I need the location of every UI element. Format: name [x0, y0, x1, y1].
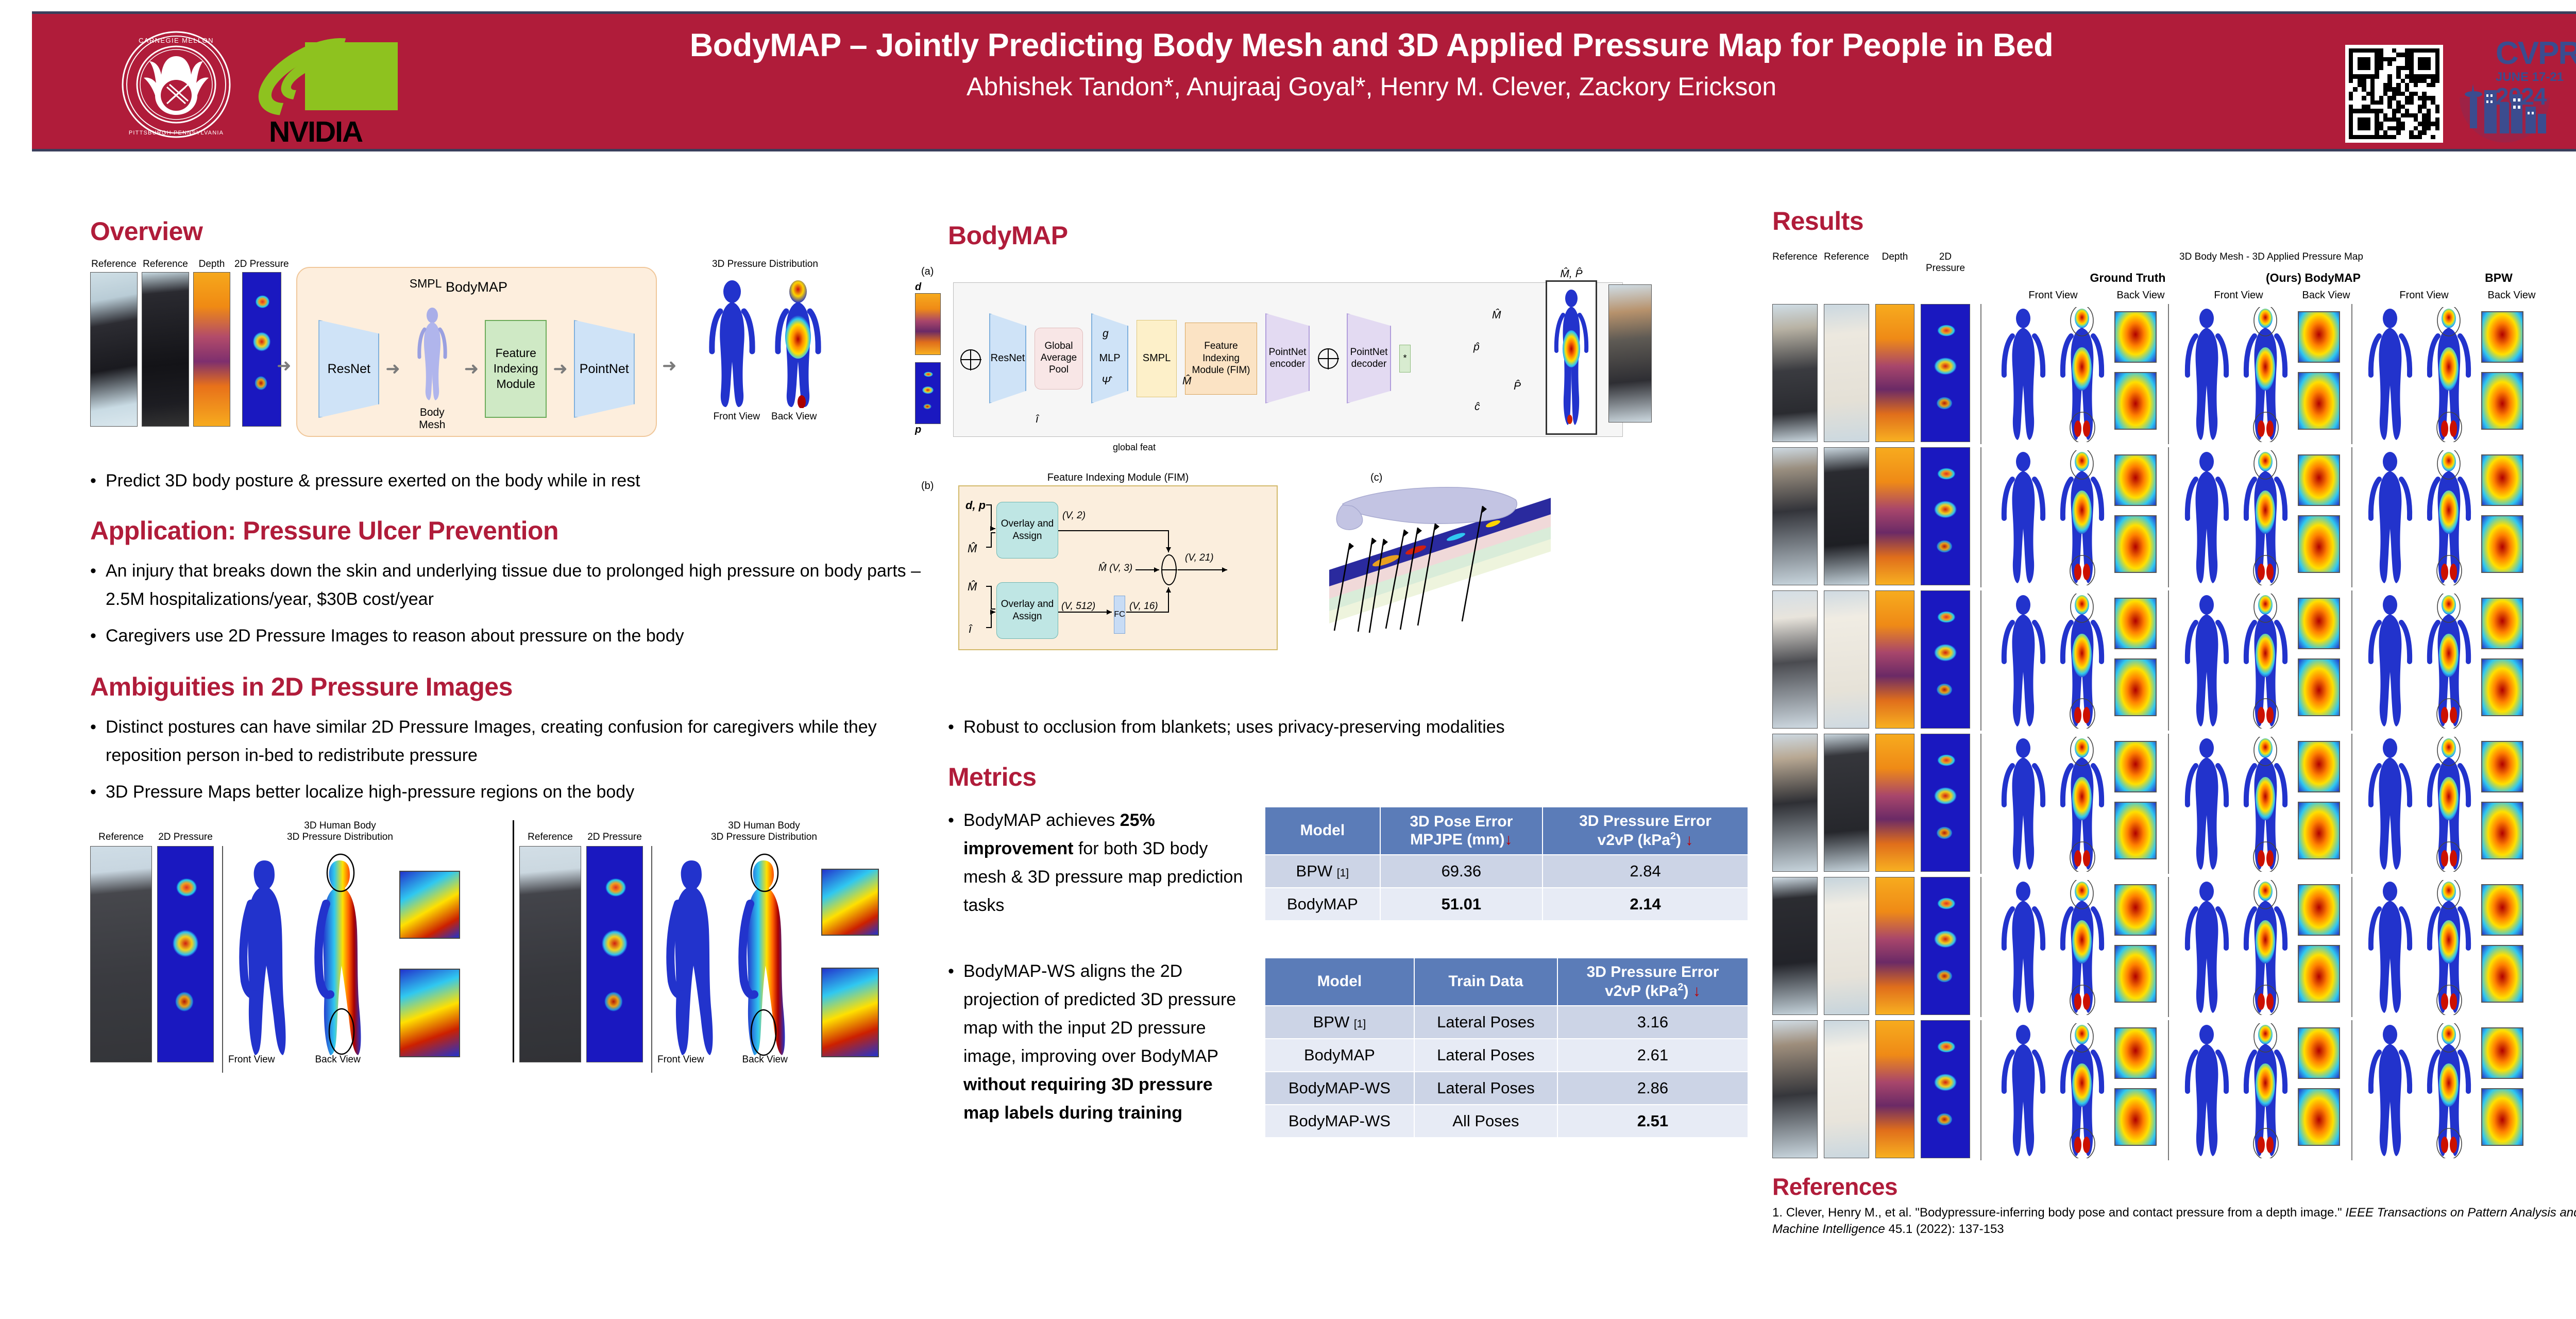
- results-divider: [2168, 734, 2169, 874]
- bullet-dot: •: [948, 713, 963, 741]
- col-header-pose-error: 3D Pose Error MPJPE (mm)↓: [1380, 807, 1543, 855]
- body-mesh-icon: [413, 307, 451, 402]
- symbol-c-hat: ĉ: [1475, 401, 1480, 413]
- results-group: [2175, 1020, 2345, 1160]
- block-label: MLP: [1099, 352, 1120, 364]
- zoom-inset-bottom: [2481, 802, 2523, 859]
- zoom-inset-bottom: [2298, 1088, 2340, 1146]
- results-group-ground-truth: Ground Truth: [2040, 271, 2215, 285]
- zoom-inset-1: [399, 871, 460, 939]
- mesh-side-front: [235, 852, 308, 1058]
- svg-text:CARNEGIE MELLON: CARNEGIE MELLON: [139, 37, 214, 44]
- table-row: BodyMAP Lateral Poses 2.61: [1265, 1039, 1748, 1072]
- section-heading-ambiguities: Ambiguities in 2D Pressure Images: [90, 672, 940, 702]
- mesh-front-view: [2362, 880, 2418, 1015]
- zoom-inset-top: [2298, 741, 2340, 792]
- nvidia-eye-icon: [253, 42, 398, 112]
- overview-figure: Reference Reference Depth 2D Pressure ➜ …: [90, 259, 940, 460]
- figure-caption: Reference: [143, 259, 188, 270]
- col-header-model: Model: [1265, 807, 1380, 855]
- view-label-back: Back View: [2092, 290, 2190, 301]
- zoom-inset-top: [2114, 741, 2157, 792]
- results-group-bpw: BPW: [2411, 271, 2576, 285]
- qr-code-icon[interactable]: [2345, 45, 2443, 143]
- results-2d-pressure: [1921, 590, 1970, 729]
- reference-item-1: 1. Clever, Henry M., et al. "Bodypressur…: [1772, 1205, 2576, 1238]
- fim-box: d, p M̂ Overlay and Assign (V, 2) M̂ î O…: [958, 485, 1278, 650]
- ambiguity-panel-1: Reference 2D Pressure 3D Human Body 3D P…: [90, 820, 507, 1073]
- figure-caption: Reference: [91, 259, 137, 270]
- block-label: PointNet decoder: [1348, 347, 1390, 370]
- bullet-text: BodyMAP achieves 25% improvement for bot…: [963, 806, 1252, 920]
- zoom-inset-bottom: [2298, 372, 2340, 430]
- arrow-icon: ➜: [662, 356, 677, 376]
- table-header-row: Model 3D Pose Error MPJPE (mm)↓ 3D Press…: [1265, 807, 1748, 855]
- mesh-front-view: [2362, 450, 2418, 585]
- reference-number: 1.: [1772, 1206, 1783, 1220]
- zoom-inset-bottom: [2298, 658, 2340, 716]
- fim-wiring: [959, 486, 1279, 651]
- zoom-inset-top: [2114, 598, 2157, 649]
- reference-locator: 45.1 (2022): 137-153: [1885, 1222, 2004, 1236]
- cell-model: BodyMAP: [1265, 1039, 1414, 1072]
- reference-text: Clever, Henry M., et al. "Bodypressure-i…: [1786, 1206, 2346, 1220]
- results-depth: [1875, 590, 1914, 729]
- cell-pressure: 2.14: [1543, 888, 1748, 921]
- down-arrow-icon: ↓: [1505, 831, 1513, 848]
- col-header-train-data: Train Data: [1414, 958, 1557, 1006]
- mesh-back-view-pressure: [2237, 737, 2294, 872]
- bullet-dot: •: [90, 622, 106, 650]
- results-group: [1992, 1020, 2162, 1160]
- figure-caption: Reference: [98, 832, 144, 843]
- author-list: Abhishek Tandon*, Anujraaj Goyal*, Henry…: [454, 72, 2289, 102]
- mesh-front-view: [1995, 450, 2052, 585]
- pressure-mat-illustration: [1309, 481, 1597, 651]
- application-bullet-2: • Caregivers use 2D Pressure Images to r…: [90, 622, 940, 650]
- view-label-front: Front View: [657, 1054, 704, 1066]
- view-label-back: Back View: [2463, 290, 2561, 301]
- section-heading-overview: Overview: [90, 216, 940, 246]
- zoom-inset-top: [2481, 454, 2523, 506]
- cell-train: Lateral Poses: [1414, 1006, 1557, 1039]
- arrow-icon: ➜: [553, 359, 568, 379]
- metrics-bullet-1: • BodyMAP achieves 25% improvement for b…: [948, 806, 1252, 920]
- results-divider: [2351, 734, 2352, 874]
- results-2d-pressure: [1921, 447, 1970, 585]
- mesh-side-back-pressure: [306, 852, 398, 1058]
- zoom-inset-top: [2114, 1027, 2157, 1079]
- block-smpl: SMPL: [1137, 320, 1177, 397]
- label-body-mesh: Body Mesh: [406, 407, 458, 431]
- bullet-dot: •: [90, 778, 106, 806]
- mesh-back-view-pressure: [2054, 594, 2110, 729]
- table-header-row: Model Train Data 3D Pressure Error v2vP …: [1265, 958, 1748, 1006]
- view-label-front: Front View: [2014, 290, 2092, 301]
- results-depth: [1875, 734, 1914, 872]
- fim-and-illustration: (b) (c) Feature Indexing Module (FIM) d,…: [948, 483, 1752, 710]
- mesh-back-view-pressure: [2054, 880, 2110, 1015]
- overview-input-pressure: 2D Pressure: [234, 259, 289, 427]
- results-reference-2: [1824, 447, 1869, 585]
- symbol-m-p-hat: M̂, P̂: [1546, 268, 1597, 280]
- symbol-psi-hat: Ψ̂: [1101, 375, 1110, 387]
- results-2d-pressure: [1921, 1020, 1970, 1158]
- results-col-label-2d-pressure: 2D Pressure: [1921, 251, 1970, 274]
- section-heading-metrics: Metrics: [948, 762, 1752, 792]
- results-reference-1: [1772, 734, 1818, 872]
- figure-caption: 3D Pressure Distribution: [648, 832, 880, 843]
- cell-model: BodyMAP: [1265, 888, 1380, 921]
- mesh-back-view-pressure: [2237, 594, 2294, 729]
- cell-pressure: 3.16: [1557, 1006, 1748, 1039]
- zoom-inset-1: [821, 869, 879, 936]
- zoom-inset-bottom: [2481, 372, 2523, 430]
- mesh-back-view-pressure: [2054, 307, 2110, 442]
- results-group: [2175, 877, 2345, 1017]
- results-reference-1: [1772, 590, 1818, 729]
- architecture-output: M̂, P̂: [1546, 268, 1597, 435]
- section-heading-application: Application: Pressure Ulcer Prevention: [90, 516, 940, 546]
- concat-operator-icon: [1318, 348, 1338, 369]
- zoom-inset-top: [2481, 1027, 2523, 1079]
- results-divider: [2351, 1020, 2352, 1160]
- table-row: BodyMAP-WS Lateral Poses 2.86: [1265, 1072, 1748, 1105]
- results-divider: [2168, 447, 2169, 587]
- page-title: BodyMAP – Jointly Predicting Body Mesh a…: [454, 26, 2289, 64]
- zoom-inset-top: [2481, 311, 2523, 363]
- bullet-dot: •: [90, 713, 106, 770]
- bodymap-bullet-1: • Robust to occlusion from blankets; use…: [948, 713, 1752, 741]
- block-label: PointNet encoder: [1266, 347, 1309, 370]
- middle-column: BodyMAP (a) d p ResNet Global Average Po…: [948, 216, 1752, 1298]
- cmu-seal-logo: CARNEGIE MELLON PITTSBURGH PENNSYLVANIA: [117, 29, 235, 140]
- results-row: [1772, 734, 2576, 877]
- figure-caption: 3D Pressure Distribution: [688, 259, 842, 270]
- zoom-inset-bottom: [2114, 515, 2157, 573]
- results-group: [2359, 590, 2529, 731]
- zoom-inset-bottom: [2114, 658, 2157, 716]
- block-label: ResNet: [328, 362, 370, 377]
- bullet-text: BodyMAP-WS aligns the 2D projection of p…: [963, 957, 1252, 1127]
- results-row: [1772, 1020, 2576, 1163]
- block-pointnet-encoder: PointNet encoder: [1265, 313, 1310, 403]
- bullet-text: Distinct postures can have similar 2D Pr…: [106, 713, 940, 770]
- zoom-inset-2: [399, 969, 460, 1057]
- zoom-inset-2: [821, 968, 879, 1057]
- overview-bodymap-box: BodyMAP ResNet ➜ SMPL Body Mesh ➜: [296, 267, 657, 437]
- block-pointnet-decoder: PointNet decoder: [1347, 313, 1391, 403]
- cell-model: BodyMAP-WS: [1265, 1072, 1414, 1105]
- block-global-average-pool: Global Average Pool: [1035, 328, 1083, 390]
- nvidia-wordmark: NVIDIA: [269, 115, 398, 149]
- zoom-inset-top: [2481, 741, 2523, 792]
- mesh-front-view: [2362, 737, 2418, 872]
- bullet-text-bold: without requiring 3D pressure map labels…: [963, 1075, 1213, 1123]
- block-fim: Feature Indexing Module: [485, 320, 547, 418]
- block-feature-indexing-module: Feature Indexing Module (FIM): [1185, 323, 1257, 395]
- mesh-back-view: [770, 279, 826, 408]
- cell-pressure: 2.51: [1557, 1105, 1748, 1138]
- zoom-inset-bottom: [2114, 945, 2157, 1003]
- table-row: BodyMAP 51.01 2.14: [1265, 888, 1748, 921]
- zoom-inset-top: [2481, 598, 2523, 649]
- cell-pressure: 2.84: [1543, 855, 1748, 888]
- symbol-i-hat: î: [1036, 413, 1039, 426]
- mesh-back-view-pressure: [2237, 307, 2294, 442]
- zoom-inset-bottom: [2481, 658, 2523, 716]
- col-header-model: Model: [1265, 958, 1414, 1006]
- results-group: [2359, 1020, 2529, 1160]
- block-label: SMPL: [1143, 352, 1171, 364]
- down-arrow-icon: ↓: [1685, 832, 1693, 849]
- input-label-pressure: p: [915, 424, 945, 436]
- results-group: [2359, 447, 2529, 587]
- mesh-front-view: [1995, 1023, 2052, 1158]
- mesh-front-view: [2178, 594, 2235, 729]
- zoom-inset-bottom: [2114, 372, 2157, 430]
- results-reference-1: [1772, 447, 1818, 585]
- results-divider: [2351, 447, 2352, 587]
- overview-input-depth: Depth: [193, 259, 230, 427]
- mesh-front-view: [1995, 737, 2052, 872]
- results-reference-1: [1772, 1020, 1818, 1158]
- view-label-back: Back View: [771, 411, 817, 422]
- architecture-reference-photo: [1608, 284, 1652, 422]
- results-2d-pressure: [1921, 304, 1970, 442]
- multiply-operator-icon: *: [1399, 345, 1411, 373]
- mesh-front-view: [2362, 307, 2418, 442]
- ambiguities-bullet-1: • Distinct postures can have similar 2D …: [90, 713, 940, 770]
- arrow-icon: ➜: [277, 356, 292, 376]
- cell-train: Lateral Poses: [1414, 1072, 1557, 1105]
- cell-train: Lateral Poses: [1414, 1039, 1557, 1072]
- cell-pressure: 2.86: [1557, 1072, 1748, 1105]
- citation-ref: [1]: [1354, 1018, 1366, 1030]
- results-reference-2: [1824, 304, 1869, 442]
- results-divider: [2168, 590, 2169, 731]
- col-header-pressure-error: 3D Pressure Error v2vP (kPa2) ↓: [1543, 807, 1748, 855]
- results-divider: [2351, 877, 2352, 1017]
- output-pressure-mesh-icon: [1553, 288, 1590, 427]
- view-label-front: Front View: [228, 1054, 275, 1066]
- zoom-inset-bottom: [2298, 515, 2340, 573]
- mesh-front-view: [1995, 594, 2052, 729]
- results-divider: [1980, 877, 1981, 1017]
- symbol-m-hat: M̂: [1182, 375, 1192, 387]
- zoom-inset-top: [2298, 1027, 2340, 1079]
- mesh-front-view: [2178, 880, 2235, 1015]
- results-group: [1992, 877, 2162, 1017]
- label-smpl: SMPL: [410, 277, 442, 291]
- cell-pose: 51.01: [1380, 888, 1543, 921]
- svg-text:PITTSBURGH PENNSYLVANIA: PITTSBURGH PENNSYLVANIA: [129, 130, 224, 136]
- mesh-front-view: [2178, 1023, 2235, 1158]
- cvpr-name: CVPR: [2496, 39, 2576, 69]
- mesh-back-view-pressure: [2054, 737, 2110, 872]
- zoom-inset-bottom: [2481, 1088, 2523, 1146]
- results-divider: [2351, 590, 2352, 731]
- results-row: [1772, 590, 2576, 734]
- nvidia-logo: NVIDIA: [253, 42, 398, 140]
- results-group: [2359, 877, 2529, 1017]
- application-bullet-1: • An injury that breaks down the skin an…: [90, 557, 940, 614]
- bullet-text: 3D Pressure Maps better localize high-pr…: [106, 778, 940, 806]
- zoom-inset-top: [2114, 884, 2157, 936]
- cell-pressure: 2.61: [1557, 1039, 1748, 1072]
- zoom-inset-bottom: [2481, 515, 2523, 573]
- table-row: BPW [1] 69.36 2.84: [1265, 855, 1748, 888]
- zoom-inset-top: [2298, 311, 2340, 363]
- cell-train: All Poses: [1414, 1105, 1557, 1138]
- figure-caption: 2D Pressure: [158, 832, 213, 843]
- symbol-m-hat-out: M̂: [1492, 309, 1501, 322]
- view-label-front: Front View: [2200, 290, 2277, 301]
- section-heading-references: References: [1772, 1173, 2576, 1200]
- results-grid: [1772, 304, 2576, 1163]
- results-group: [2175, 447, 2345, 587]
- figure-caption: 3D Pressure Distribution: [219, 832, 461, 843]
- fim-title: Feature Indexing Module (FIM): [958, 472, 1278, 484]
- overview-input-reference-1: Reference: [90, 259, 138, 427]
- mesh-front-view: [1995, 880, 2052, 1015]
- zoom-inset-top: [2114, 311, 2157, 363]
- results-group: [2359, 304, 2529, 444]
- view-label-front: Front View: [714, 411, 760, 422]
- overview-input-reference-2: Reference: [142, 259, 189, 427]
- mesh-back-view-pressure: [2237, 880, 2294, 1015]
- arrow-icon: ➜: [385, 359, 400, 379]
- results-group: [2175, 734, 2345, 874]
- block-mlp: MLP: [1091, 313, 1128, 403]
- bullet-text-part: BodyMAP achieves: [963, 810, 1120, 830]
- results-2d-pressure: [1921, 877, 1970, 1015]
- cvpr-skyline-icon: [2460, 65, 2550, 143]
- view-label-back: Back View: [742, 1054, 787, 1066]
- zoom-inset-top: [2481, 884, 2523, 936]
- results-group: [1992, 447, 2162, 587]
- symbol-p-hat-small: p̂: [1473, 341, 1480, 353]
- mesh-back-view-pressure: [2420, 594, 2477, 729]
- left-column: Overview Reference Reference Depth 2D Pr…: [90, 216, 940, 1298]
- results-divider: [1980, 734, 1981, 874]
- mesh-front-view: [2178, 737, 2235, 872]
- zoom-inset-bottom: [2298, 945, 2340, 1003]
- bullet-dot: •: [90, 467, 106, 495]
- input-label-depth: d: [915, 281, 945, 293]
- results-col-label-reference-2: Reference: [1824, 251, 1869, 274]
- title-block: BodyMAP – Jointly Predicting Body Mesh a…: [454, 26, 2289, 102]
- results-col-label-depth: Depth: [1875, 251, 1914, 274]
- view-label-front: Front View: [2385, 290, 2463, 301]
- arrow-icon: ➜: [464, 359, 479, 379]
- cell-model: BPW [1]: [1265, 1006, 1414, 1039]
- citation-ref: [1]: [1337, 867, 1349, 879]
- block-label: ResNet: [991, 352, 1025, 364]
- results-reference-1: [1772, 304, 1818, 442]
- results-reference-2: [1824, 1020, 1869, 1158]
- mesh-back-view-pressure: [2237, 450, 2294, 585]
- results-divider: [1980, 590, 1981, 731]
- results-group: [2175, 590, 2345, 731]
- ambiguities-figure: Reference 2D Pressure 3D Human Body 3D P…: [90, 820, 940, 1073]
- bullet-dot: •: [90, 557, 106, 614]
- block-label: Feature Indexing Module (FIM): [1188, 340, 1255, 377]
- results-reference-1: [1772, 877, 1818, 1015]
- zoom-inset-top: [2114, 454, 2157, 506]
- symbol-g: g: [1103, 328, 1109, 340]
- results-reference-2: [1824, 877, 1869, 1015]
- results-row: [1772, 304, 2576, 447]
- metrics-table-1: Model 3D Pose Error MPJPE (mm)↓ 3D Press…: [1264, 806, 1749, 921]
- section-heading-results: Results: [1772, 206, 2576, 236]
- block-resnet: ResNet: [989, 313, 1026, 403]
- ambiguity-panel-2: Reference 2D Pressure 3D Human Body 3D P…: [519, 820, 926, 1073]
- results-row: [1772, 447, 2576, 590]
- results-depth: [1875, 877, 1914, 1015]
- table-row: BPW [1] Lateral Poses 3.16: [1265, 1006, 1748, 1039]
- down-arrow-icon: ↓: [1693, 983, 1701, 1000]
- results-divider: [2168, 1020, 2169, 1160]
- overview-bullet-1: • Predict 3D body posture & pressure exe…: [90, 467, 940, 495]
- bullet-text: Caregivers use 2D Pressure Images to rea…: [106, 622, 940, 650]
- bullet-text: Predict 3D body posture & pressure exert…: [106, 467, 940, 495]
- block-pointnet: PointNet: [574, 320, 635, 418]
- table-row: BodyMAP-WS All Poses 2.51: [1265, 1105, 1748, 1138]
- zoom-inset-bottom: [2481, 945, 2523, 1003]
- results-group-bodymap: (Ours) BodyMAP: [2226, 271, 2401, 285]
- results-depth: [1875, 304, 1914, 442]
- results-row: [1772, 877, 2576, 1020]
- results-divider: [1980, 304, 1981, 444]
- bullet-text-part: BodyMAP-WS aligns the 2D projection of p…: [963, 961, 1236, 1066]
- figure-caption: 3D Human Body: [219, 820, 461, 832]
- mesh-back-view-pressure: [2054, 450, 2110, 585]
- zoom-inset-bottom: [2114, 1088, 2157, 1146]
- zoom-inset-top: [2298, 598, 2340, 649]
- mesh-back-view-pressure: [2420, 450, 2477, 585]
- block-label: Global Average Pool: [1035, 341, 1082, 376]
- mesh-side-back-pressure: [730, 852, 822, 1058]
- ambiguities-bullet-2: • 3D Pressure Maps better localize high-…: [90, 778, 940, 806]
- mesh-back-view-pressure: [2237, 1023, 2294, 1158]
- results-reference-2: [1824, 590, 1869, 729]
- results-group: [1992, 734, 2162, 874]
- zoom-inset-top: [2298, 884, 2340, 936]
- figure-caption: 2D Pressure: [234, 259, 289, 270]
- results-divider: [2168, 877, 2169, 1017]
- mesh-back-view-pressure: [2054, 1023, 2110, 1158]
- bullet-dot: •: [948, 957, 963, 1127]
- mesh-back-view-pressure: [2420, 1023, 2477, 1158]
- metrics-bullet-2: • BodyMAP-WS aligns the 2D projection of…: [948, 957, 1252, 1127]
- results-divider: [2168, 304, 2169, 444]
- right-column: Results Reference Reference Depth 2D Pre…: [1772, 206, 2576, 1304]
- cell-pose: 69.36: [1380, 855, 1543, 888]
- results-divider: [1980, 1020, 1981, 1160]
- block-label: PointNet: [580, 362, 629, 377]
- overview-box-title: BodyMAP: [297, 279, 656, 295]
- panel-label-b: (b): [921, 480, 934, 492]
- poster-header-banner: CARNEGIE MELLON PITTSBURGH PENNSYLVANIA …: [32, 11, 2576, 151]
- mesh-front-view: [2178, 450, 2235, 585]
- results-reference-2: [1824, 734, 1869, 872]
- results-depth: [1875, 447, 1914, 585]
- cell-model: BPW [1]: [1265, 855, 1380, 888]
- bullet-text: Robust to occlusion from blankets; uses …: [963, 713, 1752, 741]
- mesh-back-view-pressure: [2420, 880, 2477, 1015]
- block-label: Feature Indexing Module: [486, 346, 546, 392]
